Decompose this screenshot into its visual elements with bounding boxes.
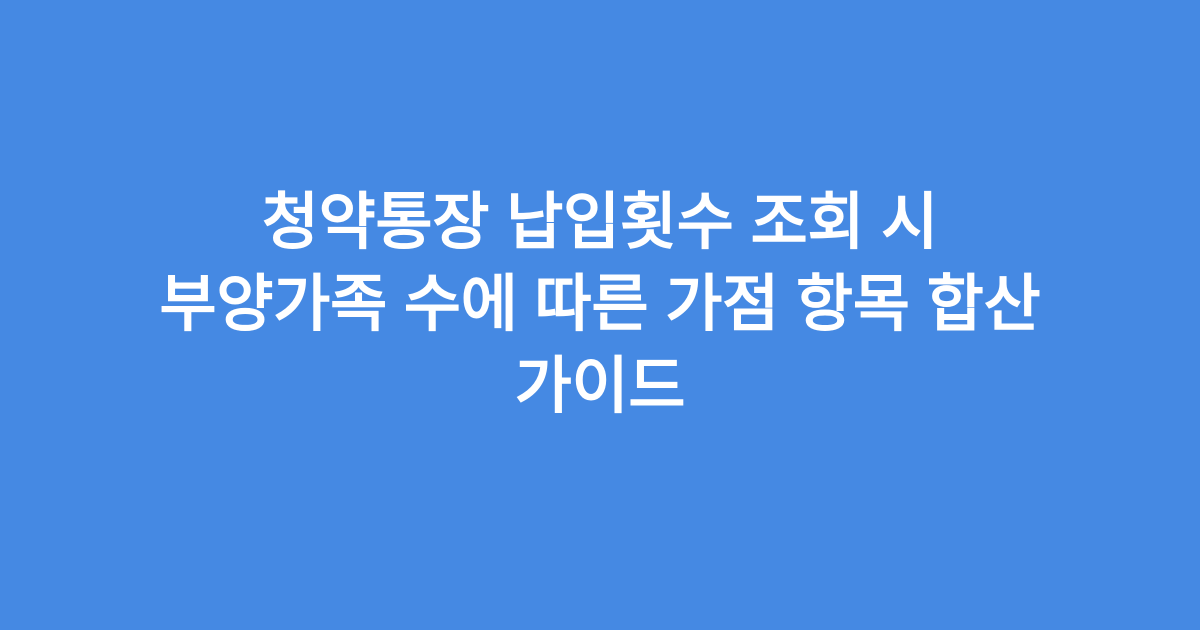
- og-card: 청약통장 납입횟수 조회 시 부양가족 수에 따른 가점 항목 합산 가이드: [0, 0, 1200, 630]
- page-title: 청약통장 납입횟수 조회 시 부양가족 수에 따른 가점 항목 합산 가이드: [65, 182, 1135, 428]
